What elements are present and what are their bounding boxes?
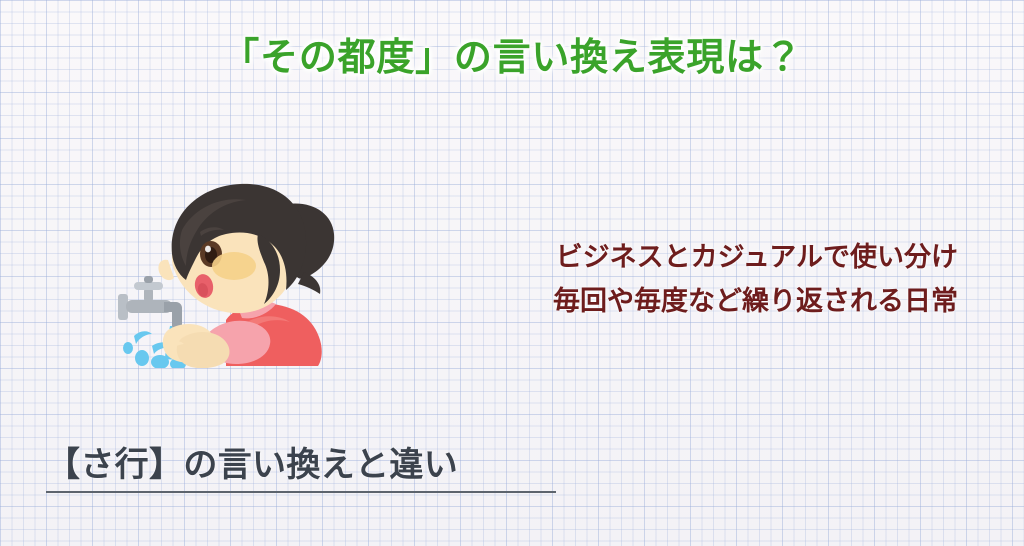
eye-highlight-shape — [205, 246, 211, 253]
lead-line-1: ビジネスとカジュアルで使い分け — [398, 236, 958, 280]
girl-washing-hands-illustration — [108, 168, 348, 368]
faucet-handle-shape — [134, 282, 163, 290]
page-title: 「その都度」の言い換え表現は？ — [0, 26, 1024, 81]
subheadline-underline — [46, 491, 556, 493]
lead-line-2: 毎回や毎度など繰り返される日常 — [398, 280, 958, 324]
lead-copy: ビジネスとカジュアルで使い分け 毎回や毎度など繰り返される日常 — [398, 236, 958, 323]
cheek-shape — [212, 252, 256, 280]
water-droplet-shape — [123, 342, 133, 354]
ear-shape — [158, 260, 174, 280]
faucet-handle-stem-shape — [144, 288, 153, 302]
subheadline-text: 【さ行】の言い換えと違い — [46, 446, 566, 484]
water-droplet-shape — [135, 350, 149, 366]
water-splash-shape — [134, 331, 152, 344]
subheadline-block: 【さ行】の言い換えと違い — [46, 446, 566, 493]
faucet-handle-cap-shape — [144, 276, 153, 283]
eyecatch-canvas: 「その都度」の言い換え表現は？ — [0, 0, 1024, 546]
